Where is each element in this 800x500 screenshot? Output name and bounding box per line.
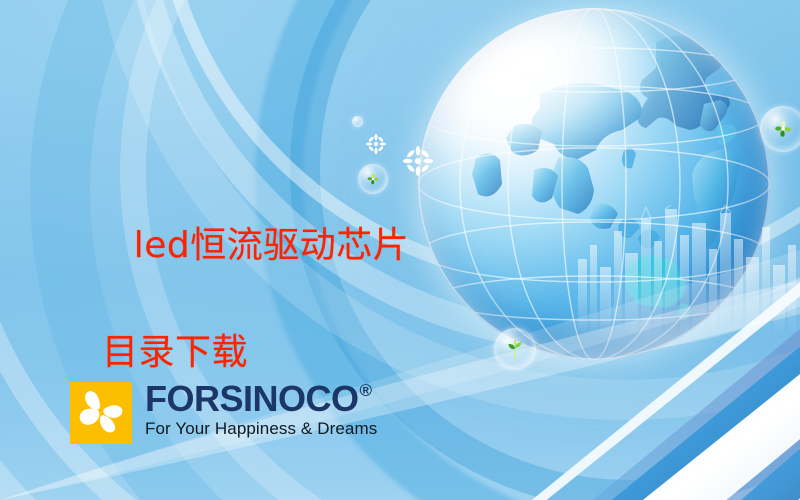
bubble-right-edge-icon [760,106,800,152]
company-logo[interactable]: FORSINOCO ® For Your Happiness & Dreams [70,382,377,444]
registered-trademark-icon: ® [360,381,372,401]
bubble-icon [352,116,363,127]
marketing-banner: led恒流驱动芯片 目录下载 FORSINOCO ® For Your Happ… [0,0,800,500]
bubble-sprout-icon [494,328,536,370]
logo-wordmark-text: FORSINOCO [145,380,359,418]
headline-line-1: led恒流驱动芯片 [134,225,410,266]
pinwheel-flower-icon [70,382,132,444]
sprout-icon [502,336,528,362]
pinwheel-icon [770,116,796,142]
headline-line-2: 目录下载 [86,326,409,379]
logo-tagline: For Your Happiness & Dreams [145,419,377,439]
logo-wordmark: FORSINOCO ® [145,380,377,418]
sparkle-small-icon [366,134,386,154]
pinwheel-flower-glyph [70,382,132,444]
logo-text-block: FORSINOCO ® For Your Happiness & Dreams [145,380,377,439]
